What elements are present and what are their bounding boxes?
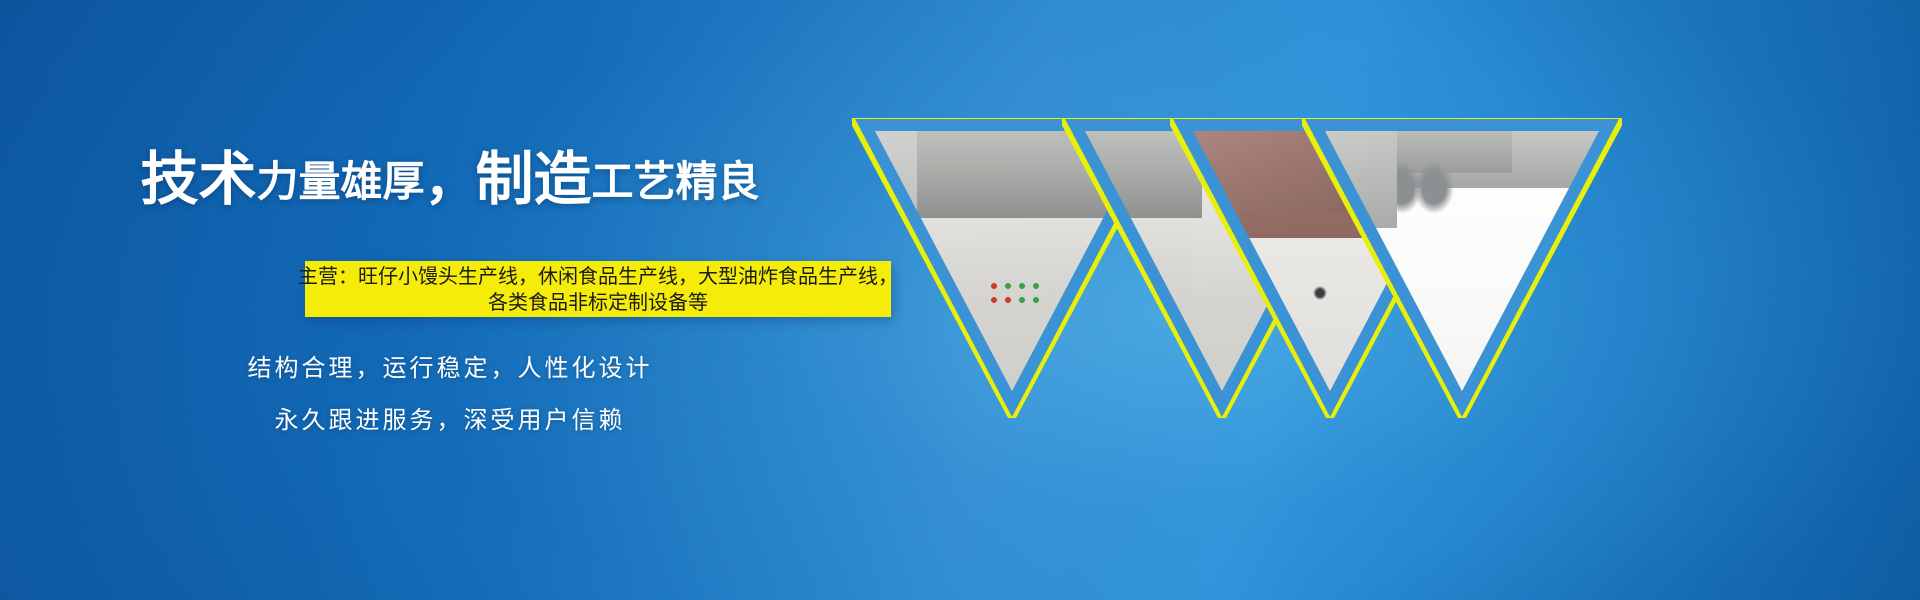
highlight-box: 主营：旺仔小馒头生产线，休闲食品生产线，大型油炸食品生产线， 各类食品非标定制设…	[305, 261, 891, 317]
headline-segment-5: 工艺精良	[592, 157, 760, 206]
gallery-item-4[interactable]	[1302, 118, 1622, 418]
promo-banner: 技术力量雄厚，制造工艺精良 主营：旺仔小馒头生产线，休闲食品生产线，大型油炸食品…	[0, 0, 1920, 600]
headline-segment-3: ，	[424, 152, 475, 212]
highlight-box-line-1: 主营：旺仔小馒头生产线，休闲食品生产线，大型油炸食品生产线，	[298, 263, 898, 289]
triangle-gallery	[840, 100, 1920, 460]
headline-segment-2: 力量雄厚	[256, 157, 424, 206]
packaging-machine-photo	[1302, 118, 1622, 418]
subline-2: 永久跟进服务，深受用户信赖	[0, 400, 900, 435]
gallery-item-4-clip	[1302, 118, 1622, 418]
headline-segment-1: 技术	[140, 145, 256, 213]
banner-text-block: 技术力量雄厚，制造工艺精良 主营：旺仔小馒头生产线，休闲食品生产线，大型油炸食品…	[0, 0, 900, 600]
subline-1: 结构合理，运行稳定，人性化设计	[0, 348, 900, 383]
highlight-box-line-2: 各类食品非标定制设备等	[488, 289, 708, 315]
headline-segment-4: 制造	[476, 145, 592, 213]
headline: 技术力量雄厚，制造工艺精良	[0, 150, 900, 208]
